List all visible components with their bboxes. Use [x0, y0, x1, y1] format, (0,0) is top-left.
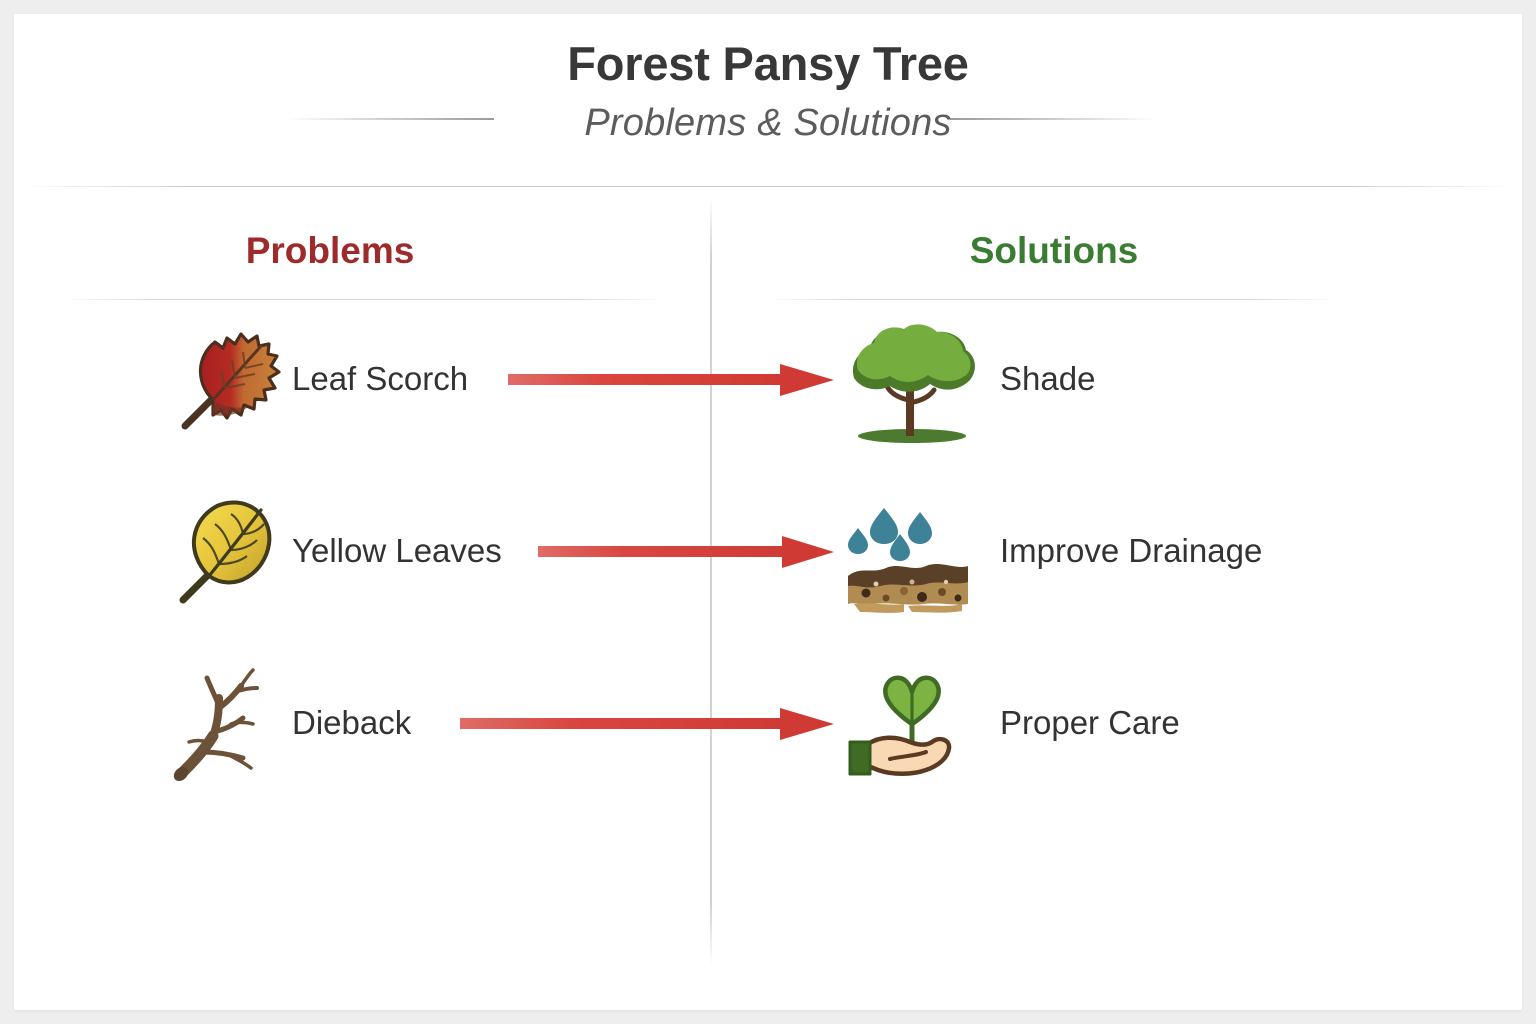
solution-label: Improve Drainage [1000, 532, 1262, 570]
problems-header-rule [64, 299, 664, 300]
shade-tree-icon [846, 318, 978, 446]
right-arrow-icon [508, 362, 834, 398]
solutions-header-rule [766, 299, 1336, 300]
page-subtitle: Problems & Solutions [14, 102, 1522, 145]
scorched-leaf-icon [169, 320, 289, 440]
problem-label: Dieback [292, 704, 411, 742]
solutions-column-header: Solutions [754, 230, 1354, 272]
solution-label: Shade [1000, 360, 1095, 398]
page-title: Forest Pansy Tree [14, 36, 1522, 91]
bare-branch-icon [169, 664, 289, 784]
soil-drainage-icon [846, 490, 978, 618]
problems-column-header: Problems [30, 230, 630, 272]
infographic-card: Forest Pansy Tree Problems & Solutions P… [14, 14, 1522, 1010]
solution-label: Proper Care [1000, 704, 1180, 742]
problem-label: Yellow Leaves [292, 532, 502, 570]
hand-heart-sprout-icon [846, 662, 978, 790]
mapping-row: Yellow Leaves [14, 492, 1522, 612]
right-arrow-icon [460, 706, 834, 742]
header-divider [22, 186, 1514, 187]
mapping-row: Leaf Scorch [14, 320, 1522, 440]
right-arrow-icon [538, 534, 834, 570]
problem-label: Leaf Scorch [292, 360, 468, 398]
header: Forest Pansy Tree Problems & Solutions [14, 14, 1522, 186]
mapping-row: Dieback [14, 664, 1522, 784]
yellow-leaf-icon [169, 492, 289, 612]
